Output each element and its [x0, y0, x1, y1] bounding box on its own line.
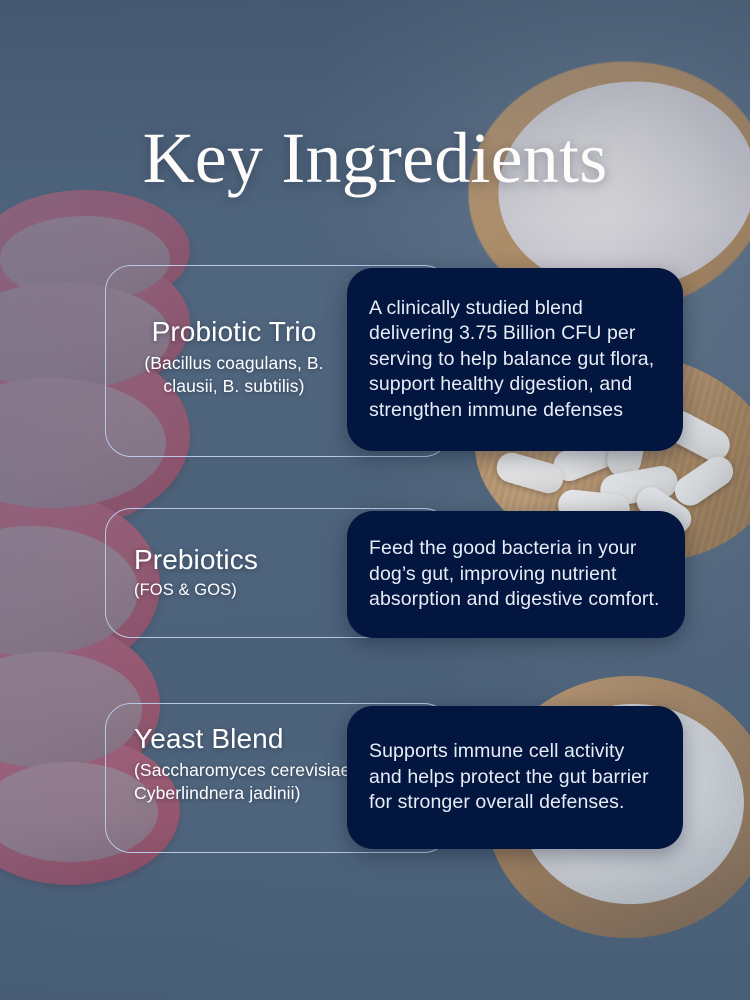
ingredient-name: Probiotic Trio [118, 316, 350, 347]
ingredient-description-box: A clinically studied blend delivering 3.… [347, 268, 683, 451]
ingredient-subtitle: (Bacillus coagulans, B. clausii, B. subt… [118, 352, 350, 397]
ingredient-subtitle: (Saccharomyces cerevisiae & Cyberlindner… [134, 759, 369, 804]
ingredient-name-block: Yeast Blend (Saccharomyces cerevisiae & … [134, 723, 369, 804]
ingredient-description: A clinically studied blend delivering 3.… [369, 296, 661, 423]
ingredient-description: Feed the good bacteria in your dog’s gut… [369, 536, 663, 612]
ingredient-name-block: Probiotic Trio (Bacillus coagulans, B. c… [118, 316, 350, 397]
key-ingredients-poster: Key Ingredients Probiotic Trio (Bacillus… [0, 0, 750, 1000]
ingredient-description-box: Supports immune cell activity and helps … [347, 706, 683, 849]
ingredient-name: Yeast Blend [134, 723, 369, 754]
ingredient-description-box: Feed the good bacteria in your dog’s gut… [347, 511, 685, 638]
ingredient-list: Probiotic Trio (Bacillus coagulans, B. c… [0, 0, 750, 1000]
ingredient-description: Supports immune cell activity and helps … [369, 739, 661, 815]
